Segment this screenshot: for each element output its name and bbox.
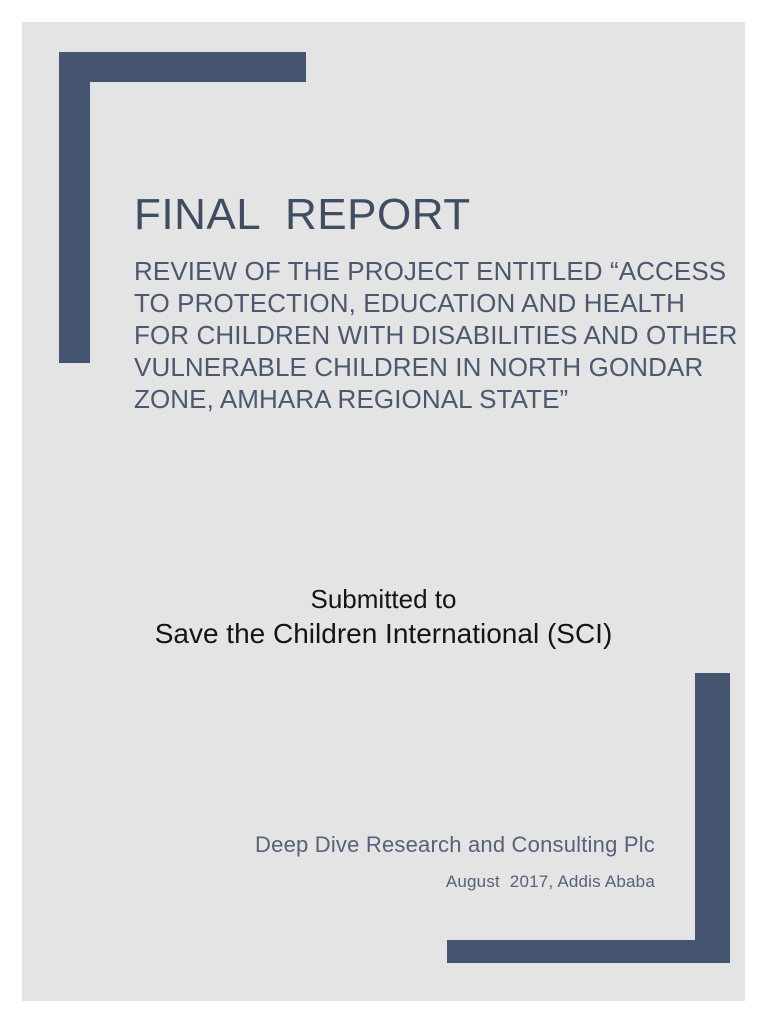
corner-bracket-bottom-right-horizontal-bar	[447, 940, 730, 963]
title-block: FINAL REPORT REVIEW OF THE PROJECT ENTIT…	[134, 190, 745, 415]
subtitle-line: FOR CHILDREN WITH DISABILITIES AND OTHER	[134, 319, 745, 351]
subtitle-line: TO PROTECTION, EDUCATION AND HEALTH	[134, 287, 745, 319]
date-and-place: August 2017, Addis Ababa	[22, 860, 655, 894]
corner-bracket-top-left-horizontal-bar	[59, 52, 306, 82]
document-title: FINAL REPORT	[134, 190, 745, 239]
corner-bracket-top-left-vertical-bar	[59, 52, 90, 363]
document-cover-page: FINAL REPORT REVIEW OF THE PROJECT ENTIT…	[22, 22, 745, 1001]
document-subtitle: REVIEW OF THE PROJECT ENTITLED “ACCESS T…	[134, 239, 745, 415]
subtitle-line: REVIEW OF THE PROJECT ENTITLED “ACCESS	[134, 255, 745, 287]
subtitle-line: VULNERABLE CHILDREN IN NORTH GONDAR	[134, 351, 745, 383]
submitted-to-block: Submitted to Save the Children Internati…	[22, 582, 745, 652]
corner-bracket-bottom-right-vertical-bar	[695, 673, 730, 963]
author-footer-block: Deep Dive Research and Consulting Plc Au…	[22, 830, 655, 894]
subtitle-line: ZONE, AMHARA REGIONAL STATE”	[134, 383, 745, 415]
submitted-to-label: Submitted to	[22, 582, 745, 616]
author-name: Deep Dive Research and Consulting Plc	[22, 830, 655, 860]
submitted-to-organization: Save the Children International (SCI)	[22, 616, 745, 652]
